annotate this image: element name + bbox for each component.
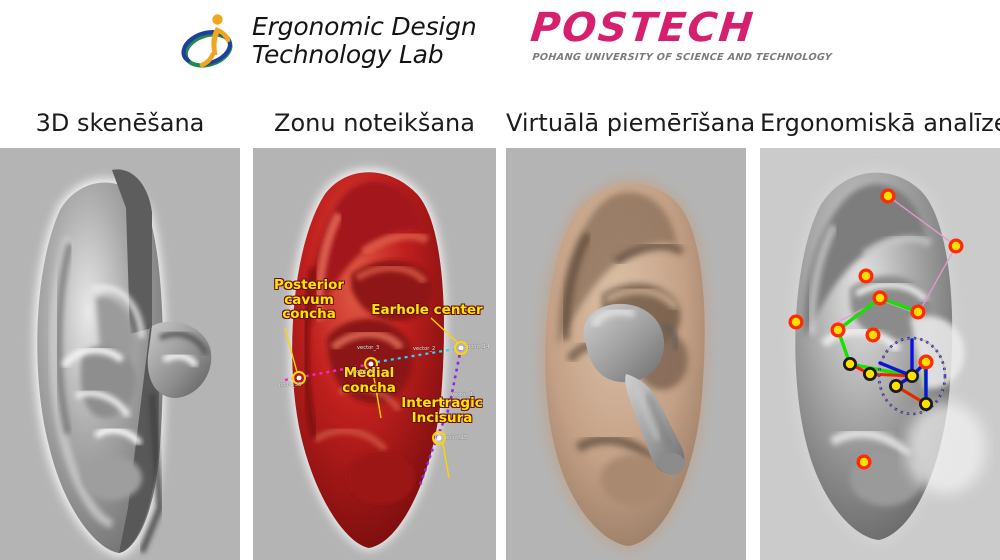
vector-label-1: vector_1 (451, 392, 473, 398)
ergonomic-analysis-ear-landmarks (760, 148, 1000, 560)
postech-subtitle: POHANG UNIVERSITY OF SCIENCE AND TECHNOL… (532, 52, 803, 63)
caption-3d-scan: 3D skenēšana (0, 104, 240, 142)
ergonomic-analysis-panel (760, 148, 1000, 560)
edt-logo-line2: Technology Lab (252, 41, 477, 69)
point-label-14: point_14 (467, 344, 489, 350)
scanned-ear-mesh (0, 148, 240, 560)
vector-label-3: vector_3 (357, 345, 379, 351)
zone-detection-panel: Posterior cavum concha Earhole center Me… (253, 148, 496, 560)
edt-lab-wordmark: Ergonomic Design Technology Lab (252, 13, 477, 69)
point-label-38: point_38 (279, 382, 301, 388)
edt-swirl-figure-icon (180, 10, 242, 72)
3d-scan-panel (0, 148, 240, 560)
point-label-52: point_52 (353, 369, 375, 375)
zone-detection-ear-model (253, 148, 496, 560)
postech-logo: POSTECH POHANG UNIVERSITY OF SCIENCE AND… (533, 8, 803, 70)
virtual-fitting-panel (506, 148, 746, 560)
point-label-15: point_15 (445, 435, 467, 441)
edt-logo-line1: Ergonomic Design (252, 13, 477, 41)
slide-root: Ergonomic Design Technology Lab POSTECH … (0, 0, 1000, 560)
caption-virtual-fitting: Virtuālā piemērīšana (506, 104, 746, 142)
caption-zone-detection: Zonu noteikšana (253, 104, 496, 142)
vector-label-2: vector_2 (413, 346, 435, 352)
header-logo-bar: Ergonomic Design Technology Lab POSTECH … (0, 0, 1000, 96)
ergonomic-design-technology-lab-logo: Ergonomic Design Technology Lab (180, 6, 480, 76)
virtual-fitting-ear-with-earbud (506, 148, 746, 560)
postech-wordmark: POSTECH (529, 8, 803, 48)
caption-ergonomic-analysis: Ergonomiskā analīze (760, 104, 1000, 142)
